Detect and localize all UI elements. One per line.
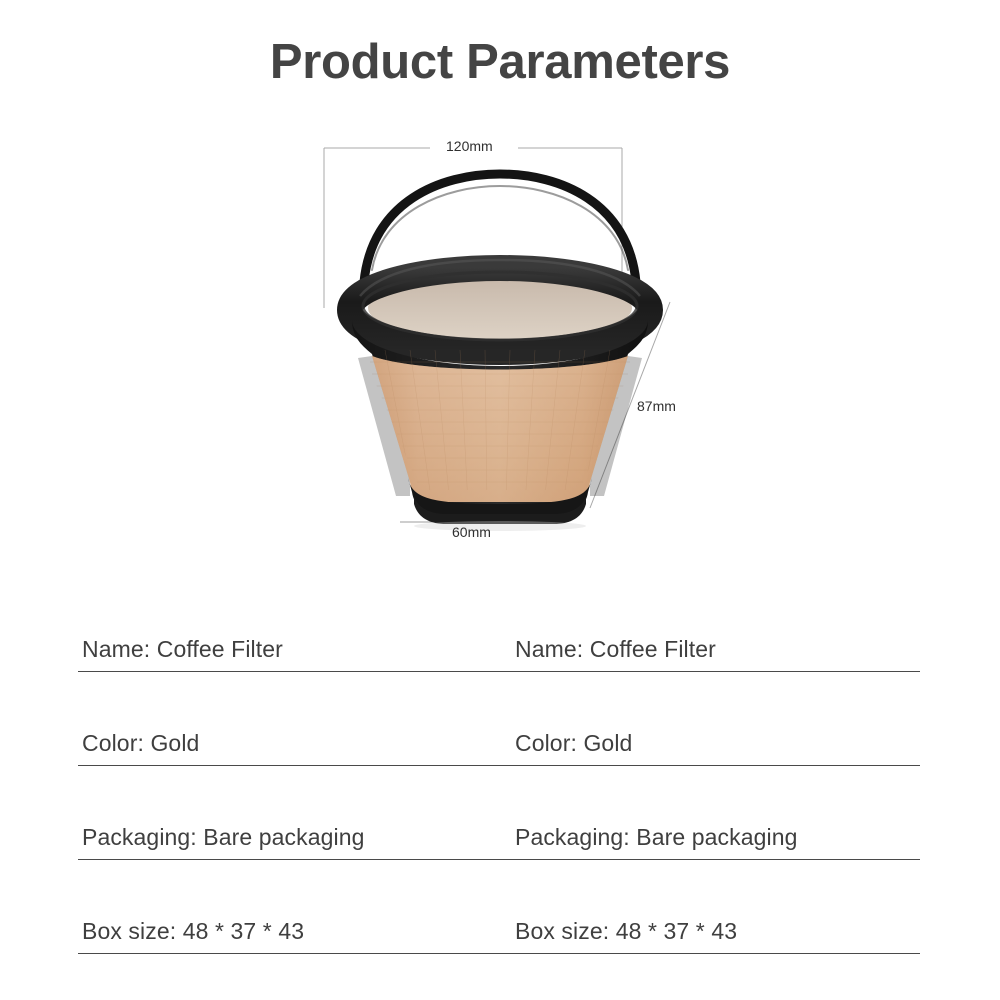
coffee-filter-illustration (0, 130, 1000, 560)
dimension-label-top-width: 120mm (446, 138, 493, 154)
spec-name-right: Name: Coffee Filter (515, 636, 716, 663)
spec-box-size-left: Box size: 48 * 37 * 43 (82, 918, 304, 945)
spec-packaging-left: Packaging: Bare packaging (82, 824, 365, 851)
page-title: Product Parameters (0, 36, 1000, 90)
table-row: Box size: 48 * 37 * 43 Box size: 48 * 37… (78, 860, 920, 954)
dimension-label-height: 87mm (637, 398, 676, 414)
spec-color-right: Color: Gold (515, 730, 632, 757)
spec-name-left: Name: Coffee Filter (82, 636, 283, 663)
table-row: Color: Gold Color: Gold (78, 672, 920, 766)
product-parameters-table: Name: Coffee Filter Name: Coffee Filter … (78, 578, 920, 954)
table-row: Name: Coffee Filter Name: Coffee Filter (78, 578, 920, 672)
spec-packaging-right: Packaging: Bare packaging (515, 824, 798, 851)
table-row: Packaging: Bare packaging Packaging: Bar… (78, 766, 920, 860)
spec-color-left: Color: Gold (82, 730, 199, 757)
dimension-label-bottom-width: 60mm (452, 524, 491, 540)
filter-mesh-shading (372, 356, 628, 502)
filter-reflection (414, 521, 586, 531)
product-figure: 120mm 87mm 60mm (0, 130, 1000, 560)
spec-box-size-right: Box size: 48 * 37 * 43 (515, 918, 737, 945)
